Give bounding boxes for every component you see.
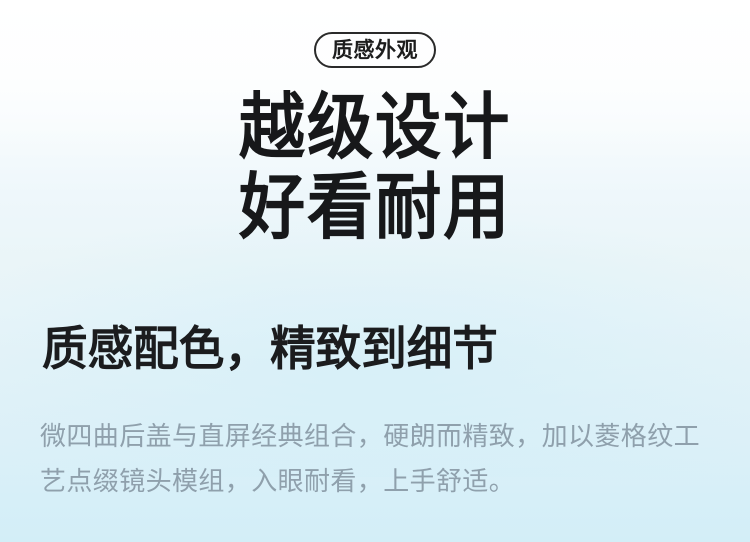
section-subheading-text: 质感配色，精致到细节: [42, 320, 688, 378]
section-body-line-2: 艺点缀镜头模组，入眼耐看，上手舒适。: [40, 459, 714, 504]
feature-badge-label: 质感外观: [332, 40, 418, 61]
badge-row: 质感外观: [0, 32, 750, 68]
section-body-line-1: 微四曲后盖与直屏经典组合，硬朗而精致，加以菱格纹工: [40, 414, 714, 459]
section-body-copy: 微四曲后盖与直屏经典组合，硬朗而精致，加以菱格纹工 艺点缀镜头模组，入眼耐看，上…: [40, 414, 714, 504]
hero-heading-line-1: 越级设计: [30, 88, 720, 168]
section-subheading: 质感配色，精致到细节: [42, 320, 708, 378]
product-feature-banner: 质感外观 越级设计 好看耐用 质感配色，精致到细节 微四曲后盖与直屏经典组合，硬…: [0, 0, 750, 542]
hero-heading: 越级设计 好看耐用: [0, 88, 750, 248]
banner-content: 质感外观 越级设计 好看耐用 质感配色，精致到细节 微四曲后盖与直屏经典组合，硬…: [0, 0, 750, 542]
feature-badge: 质感外观: [314, 32, 436, 68]
hero-heading-line-2: 好看耐用: [30, 168, 720, 248]
